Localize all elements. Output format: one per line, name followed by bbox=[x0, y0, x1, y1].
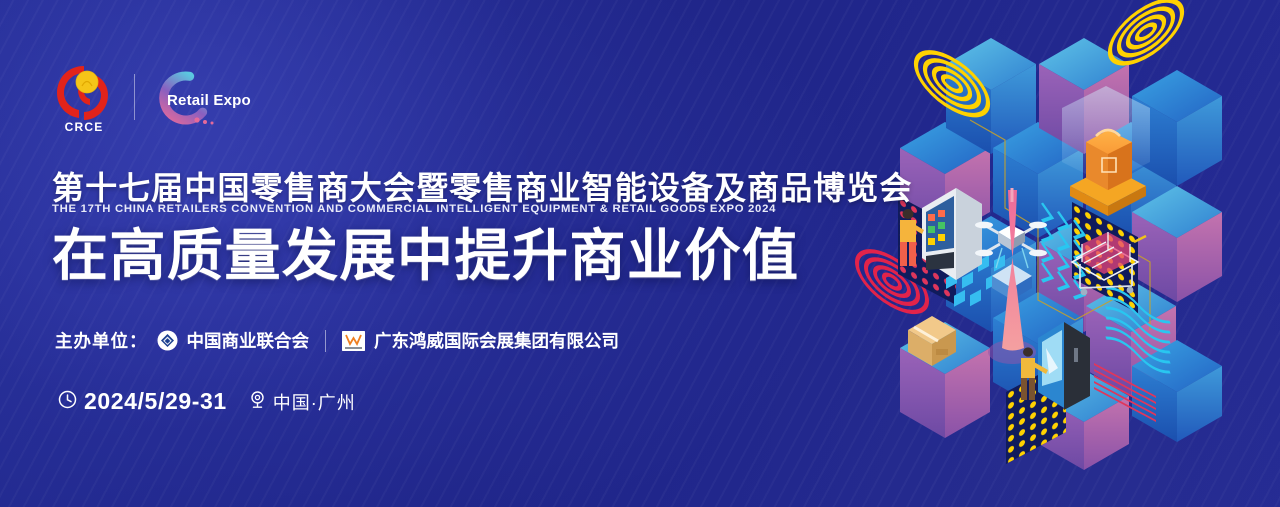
retail-expo-logo: Retail Expo bbox=[153, 66, 257, 128]
logo-divider bbox=[134, 74, 135, 120]
organizers-label: 主办单位： bbox=[55, 328, 148, 353]
expo-banner: CRCE Re bbox=[0, 0, 1280, 507]
clock-icon bbox=[58, 390, 77, 414]
organizer-1-name: 中国商业联合会 bbox=[187, 328, 310, 353]
retail-expo-text: Retail Expo bbox=[167, 92, 251, 109]
organizer-2: 广东鸿威国际会展集团有限公司 bbox=[342, 328, 619, 353]
crce-wordmark: CRCE bbox=[65, 120, 104, 134]
isometric-illustration bbox=[850, 0, 1280, 507]
organizer-1: 中国商业联合会 bbox=[157, 328, 310, 353]
cgcc-diamond-icon bbox=[157, 330, 178, 351]
organizer-2-name: 广东鸿威国际会展集团有限公司 bbox=[374, 328, 619, 353]
organizers-row: 主办单位： 中国商业联合会 bbox=[55, 328, 619, 353]
title-english: THE 17TH CHINA RETAILERS CONVENTION AND … bbox=[52, 203, 776, 215]
event-location: 中国·广州 bbox=[273, 389, 356, 415]
logo-row: CRCE Re bbox=[52, 60, 257, 134]
banner-content: CRCE Re bbox=[0, 0, 870, 507]
orange-shopping-bag bbox=[1062, 86, 1150, 216]
location-pin-icon bbox=[249, 390, 266, 414]
hongwei-logo-icon bbox=[342, 331, 365, 351]
headline-slogan: 在高质量发展中提升商业价值 bbox=[52, 224, 800, 288]
crce-logo: CRCE bbox=[52, 60, 116, 134]
organizer-separator bbox=[325, 330, 326, 352]
event-meta: 2024/5/29-31 中国·广州 bbox=[58, 388, 356, 415]
event-date: 2024/5/29-31 bbox=[84, 388, 227, 415]
fingerprint-yellow-icon bbox=[1110, 0, 1182, 76]
